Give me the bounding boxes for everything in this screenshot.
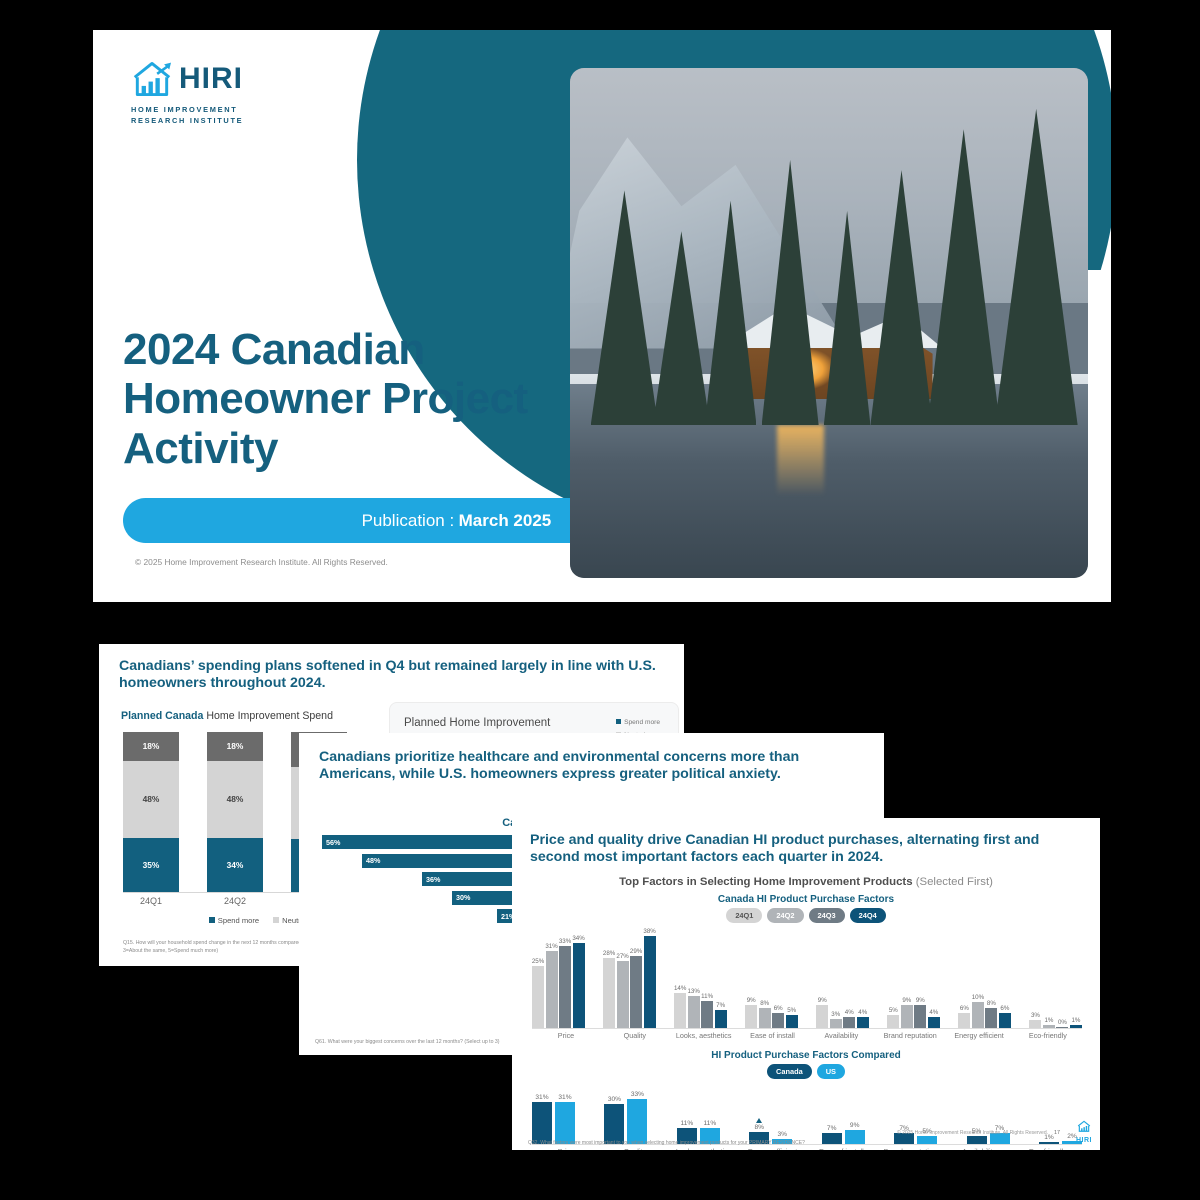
photo-reflection xyxy=(777,425,824,496)
chip-24q1[interactable]: 24Q1 xyxy=(726,908,762,923)
bar-24q3 xyxy=(630,956,642,1028)
bar-value: 4% xyxy=(858,1009,867,1016)
bar-value: 5% xyxy=(889,1007,898,1014)
segment-neutral: 48% xyxy=(207,761,263,838)
bar-value: 33% xyxy=(559,938,571,945)
factors-subtitle-bold: Top Factors in Selecting Home Improvemen… xyxy=(619,876,912,888)
factors-subtitle-light: (Selected First) xyxy=(913,876,993,888)
compare-group-price: 31% 31% xyxy=(532,1082,575,1144)
canada-factors-x-labels: Price Quality Looks, aesthetics Ease of … xyxy=(532,1031,1082,1040)
bar-value: 31% xyxy=(545,943,557,950)
bar-canada xyxy=(967,1136,987,1144)
bar-value: 28% xyxy=(603,950,615,957)
bar-value: 6% xyxy=(774,1005,783,1012)
bar-24q1 xyxy=(958,1013,970,1028)
x-tick-energy-efficient: Energy efficient xyxy=(739,1147,807,1150)
bar-24q1 xyxy=(816,1005,828,1028)
bar-value: 3% xyxy=(1031,1012,1040,1019)
x-tick-quality: Quality xyxy=(601,1031,669,1040)
bar-24q2 xyxy=(901,1005,913,1028)
bar-24q4 xyxy=(857,1017,869,1028)
bar-value: 0% xyxy=(1058,1019,1067,1026)
stacked-bar-24q1: 18% 48% 35% xyxy=(123,732,179,892)
bar-value: 34% xyxy=(572,935,584,942)
bar-24q4 xyxy=(644,936,656,1028)
bar-value: 11% xyxy=(703,1120,716,1127)
factors-slide-title: Price and quality drive Canadian HI prod… xyxy=(530,832,1085,867)
concerns-slide-title: Canadians prioritize healthcare and envi… xyxy=(319,749,869,784)
house-chart-icon xyxy=(1077,1120,1091,1132)
x-tick-eco-friendly: Eco-friendly xyxy=(1014,1031,1082,1040)
compared-factors-section-title: HI Product Purchase Factors Compared xyxy=(512,1050,1100,1061)
bar-value: 6% xyxy=(1000,1005,1009,1012)
chip-24q3[interactable]: 24Q3 xyxy=(809,908,845,923)
bar-value: 8% xyxy=(987,1000,996,1007)
bar-value: 7% xyxy=(716,1002,725,1009)
segment-spend-less: 18% xyxy=(123,732,179,761)
compare-group-quality: 30% 33% xyxy=(604,1082,647,1144)
bar-value: 7% xyxy=(827,1125,837,1132)
page-title: 2024 Canadian Homeowner Project Activity xyxy=(123,325,593,473)
canada-factors-axis xyxy=(532,1028,1082,1029)
bar-us xyxy=(555,1102,575,1144)
legend-spend-more: Spend more xyxy=(209,916,259,925)
bar-24q3 xyxy=(914,1005,926,1028)
bar-24q4 xyxy=(573,943,585,1028)
x-tick-24q2: 24Q2 xyxy=(207,896,263,906)
factor-group-quality: 28% 27% 29% 38% xyxy=(603,928,656,1028)
title-slide: HIRI HOME IMPROVEMENT RESEARCH INSTITUTE… xyxy=(93,30,1111,602)
spend-chart-title-prefix: Planned Canada xyxy=(121,710,203,722)
bar-value: 27% xyxy=(616,953,628,960)
segment-spend-more: 35% xyxy=(123,838,179,892)
factor-group-eco-friendly: 3% 1% 0% 1% xyxy=(1029,928,1082,1028)
cabin-photo xyxy=(570,68,1088,578)
x-tick-price: Price xyxy=(532,1031,600,1040)
bar-24q2 xyxy=(688,996,700,1028)
bar-canada xyxy=(822,1133,842,1144)
bar-value: 4% xyxy=(929,1009,938,1016)
bar-canada xyxy=(604,1104,624,1144)
hiri-logo-small: HIRI xyxy=(1076,1119,1092,1144)
bar-value: 1% xyxy=(1044,1017,1053,1024)
bar-24q1 xyxy=(745,1005,757,1028)
chip-us[interactable]: US xyxy=(817,1064,845,1079)
bar-24q1 xyxy=(887,1015,899,1028)
compare-chip-group: Canada US xyxy=(512,1064,1100,1079)
bar-us xyxy=(627,1099,647,1144)
bar-value: 9% xyxy=(818,997,827,1004)
stacked-bar-24q2: 18% 48% 34% xyxy=(207,732,263,892)
bar-24q3 xyxy=(701,1001,713,1028)
bar-24q3 xyxy=(772,1013,784,1028)
hiri-logo: HIRI HOME IMPROVEMENT RESEARCH INSTITUTE xyxy=(131,60,341,126)
spend-chart-title-rest: Home Improvement Spend xyxy=(203,710,333,722)
bar-24q1 xyxy=(603,958,615,1028)
bar-value: 9% xyxy=(916,997,925,1004)
bar-value: 31% xyxy=(558,1094,571,1101)
x-tick-quality: Quality xyxy=(601,1147,669,1150)
factor-group-looks: 14% 13% 11% 7% xyxy=(674,928,727,1028)
canada-factors-section-title: Canada HI Product Purchase Factors xyxy=(512,894,1100,905)
x-tick-brand-reputation: Brand reputation xyxy=(876,1147,944,1150)
bar-value: 13% xyxy=(687,988,699,995)
compare-group-ease-of-install: 7% 9% xyxy=(822,1082,865,1144)
house-chart-icon xyxy=(131,60,173,98)
bar-us xyxy=(845,1130,865,1144)
logo-wordmark: HIRI xyxy=(1076,1137,1092,1144)
bar-value: 10% xyxy=(972,994,984,1001)
factor-group-energy-efficient: 6% 10% 8% 6% xyxy=(958,928,1011,1028)
factors-slide: Price and quality drive Canadian HI prod… xyxy=(512,818,1100,1150)
logo-tagline-line2: RESEARCH INSTITUTE xyxy=(131,115,341,126)
compare-group-looks: 11% 11% xyxy=(677,1082,720,1144)
bar-value: 33% xyxy=(631,1091,644,1098)
bar-value: 29% xyxy=(630,948,642,955)
bar-value: 6% xyxy=(960,1005,969,1012)
chip-canada[interactable]: Canada xyxy=(767,1064,812,1079)
factor-group-ease-of-install: 9% 8% 6% 5% xyxy=(745,928,798,1028)
chip-24q2[interactable]: 24Q2 xyxy=(767,908,803,923)
page-number: 17 xyxy=(1054,1130,1060,1136)
x-tick-24q1: 24Q1 xyxy=(123,896,179,906)
factor-group-availability: 9% 3% 4% 4% xyxy=(816,928,869,1028)
bar-24q1 xyxy=(532,966,544,1028)
bar-canada xyxy=(532,1102,552,1144)
factor-group-brand-reputation: 5% 9% 9% 4% xyxy=(887,928,940,1028)
bar-value: 1% xyxy=(1071,1017,1080,1024)
bar-value: 3% xyxy=(831,1011,840,1018)
x-tick-ease-of-install: Ease of install xyxy=(807,1147,875,1150)
screenshot-stage: HIRI HOME IMPROVEMENT RESEARCH INSTITUTE… xyxy=(0,0,1200,1200)
spend-slide-title: Canadians’ spending plans softened in Q4… xyxy=(119,658,664,693)
publication-value: March 2025 xyxy=(459,511,552,531)
copyright-notice: © 2025 Home Improvement Research Institu… xyxy=(135,557,388,567)
bar-24q1 xyxy=(1029,1020,1041,1028)
bar-value: 38% xyxy=(643,928,655,935)
bar-value: 8% xyxy=(755,1124,765,1131)
bar-24q2 xyxy=(759,1008,771,1028)
bar-24q4 xyxy=(715,1010,727,1028)
bar-us xyxy=(917,1136,937,1144)
logo-wordmark: HIRI xyxy=(179,64,243,94)
publication-label: Publication : xyxy=(362,511,455,531)
factors-footnote: Q32. What factors were most important to… xyxy=(528,1140,805,1146)
bar-24q2 xyxy=(546,951,558,1028)
canada-factors-chart: 25% 31% 33% 34% 28% 27% 29% 38% 14% 13% … xyxy=(532,928,1082,1028)
compare-group-energy-efficient: 8% 3% xyxy=(749,1082,792,1144)
x-tick-price: Price xyxy=(532,1147,600,1150)
bar-value: 14% xyxy=(674,985,686,992)
chip-24q4[interactable]: 24Q4 xyxy=(850,908,886,923)
bar-value: 9% xyxy=(902,997,911,1004)
bar-24q4 xyxy=(999,1013,1011,1028)
x-tick-looks: Looks, aesthetics xyxy=(670,1031,738,1040)
x-tick-looks: Looks, aesthetics xyxy=(670,1147,738,1150)
factors-copyright: © 2025 Home Improvement Research Institu… xyxy=(897,1130,1048,1136)
x-tick-availability: Availability xyxy=(807,1031,875,1040)
x-tick-ease-of-install: Ease of install xyxy=(739,1031,807,1040)
bar-value: 11% xyxy=(701,993,713,1000)
bar-value: 4% xyxy=(845,1009,854,1016)
bar-value: 31% xyxy=(535,1094,548,1101)
bar-24q3 xyxy=(985,1008,997,1028)
logo-tagline: HOME IMPROVEMENT RESEARCH INSTITUTE xyxy=(131,104,341,126)
segment-neutral: 48% xyxy=(123,761,179,838)
x-tick-brand-reputation: Brand reputation xyxy=(876,1031,944,1040)
segment-spend-less: 18% xyxy=(207,732,263,761)
triangle-up-icon xyxy=(756,1118,762,1123)
bar-24q4 xyxy=(928,1017,940,1028)
factors-subtitle: Top Factors in Selecting Home Improvemen… xyxy=(512,876,1100,888)
quarter-chip-group: 24Q1 24Q2 24Q3 24Q4 xyxy=(512,908,1100,923)
bar-value: 5% xyxy=(787,1007,796,1014)
bar-value: 25% xyxy=(532,958,544,965)
concerns-footnote: Q61. What were your biggest concerns ove… xyxy=(315,1039,500,1045)
x-tick-availability: Availability xyxy=(945,1147,1013,1150)
bar-24q4 xyxy=(786,1015,798,1028)
x-tick-eco-friendly: Eco-friendly xyxy=(1014,1147,1082,1150)
bar-value: 8% xyxy=(760,1000,769,1007)
bar-value: 30% xyxy=(608,1096,621,1103)
bar-value: 9% xyxy=(747,997,756,1004)
spend-chart-title: Planned Canada Home Improvement Spend xyxy=(121,710,333,722)
x-tick-energy-efficient: Energy efficient xyxy=(945,1031,1013,1040)
bar-value: 9% xyxy=(850,1122,860,1129)
segment-spend-more: 34% xyxy=(207,838,263,892)
bar-value: 11% xyxy=(680,1120,693,1127)
factor-group-price: 25% 31% 33% 34% xyxy=(532,928,585,1028)
bar-24q2 xyxy=(830,1019,842,1028)
legend-spend-more: Spend more xyxy=(616,717,660,730)
bar-value: 3% xyxy=(778,1131,788,1138)
bar-24q2 xyxy=(972,1002,984,1028)
bar-24q3 xyxy=(843,1017,855,1028)
compared-factors-x-labels: Price Quality Looks, aesthetics Energy e… xyxy=(532,1147,1082,1150)
bar-24q2 xyxy=(617,961,629,1028)
bar-24q1 xyxy=(674,993,686,1028)
bar-24q3 xyxy=(559,946,571,1028)
logo-tagline-line1: HOME IMPROVEMENT xyxy=(131,104,341,115)
